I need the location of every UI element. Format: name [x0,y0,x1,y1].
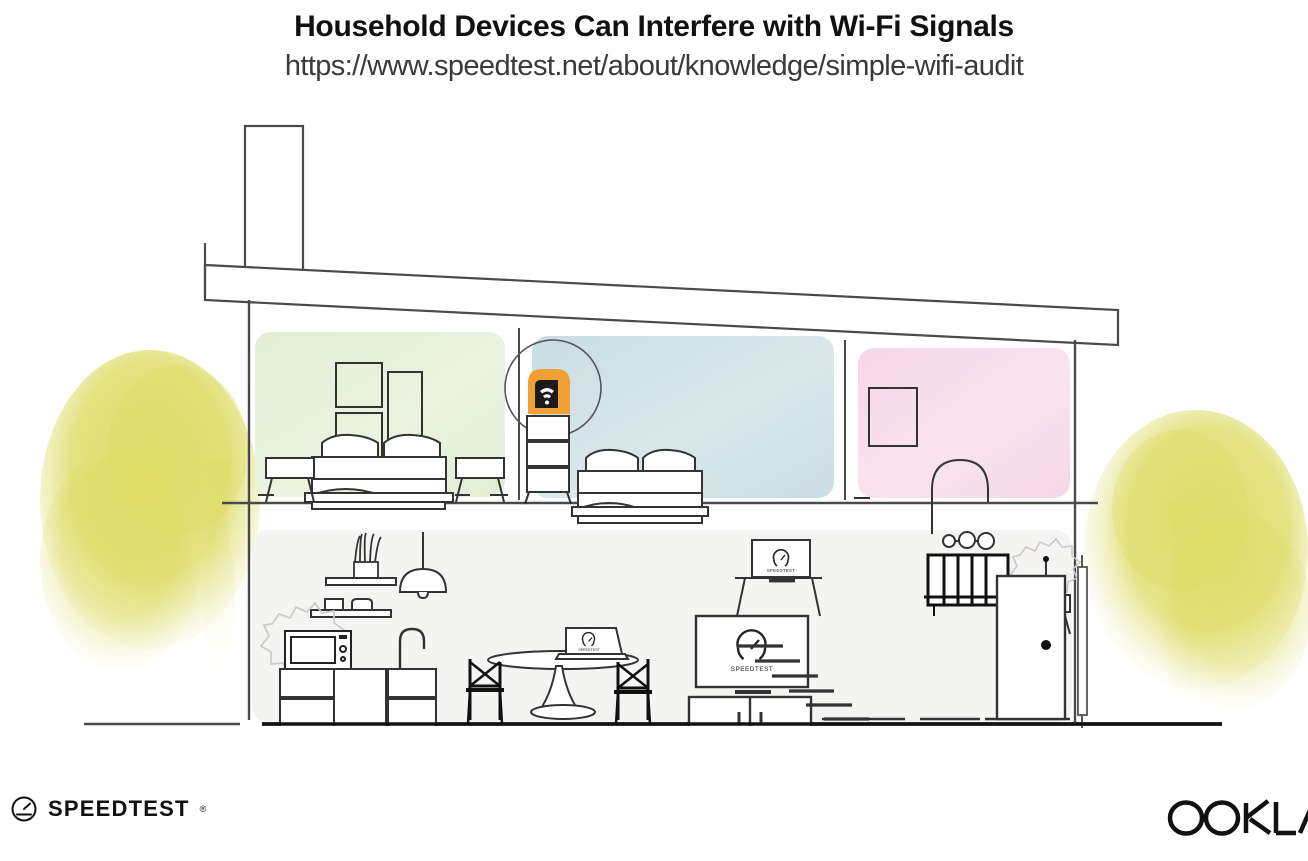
house-svg: SPEEDTEST [0,100,1308,760]
laptop-screen-label: SPEEDTEST [578,648,600,652]
ookla-brand [1164,797,1308,839]
tree-right [1084,410,1308,710]
stairs-mask [252,726,1080,760]
ookla-logo-icon [1164,797,1308,839]
room-nursery-pink [858,348,1070,498]
source-url: https://www.speedtest.net/about/knowledg… [0,50,1308,83]
monitor-screen-label: SPEEDTEST [767,568,795,573]
tree-left [40,350,260,670]
roof [205,243,1118,345]
house-cutaway-illustration: SPEEDTEST [0,100,1308,760]
exterior-post [1078,555,1087,728]
monitor-speedtest: SPEEDTEST [752,540,810,582]
laptop-speedtest: SPEEDTEST [556,628,628,659]
page-title: Household Devices Can Interfere with Wi-… [0,10,1308,44]
speedtest-wordmark: SPEEDTEST [48,796,190,822]
television-speedtest: SPEEDTEST [696,616,808,694]
poster-header: Household Devices Can Interfere with Wi-… [0,0,1308,83]
speedtest-trademark: ® [200,804,207,814]
shelf-unit [525,416,571,504]
chimney [245,126,303,271]
poster-footer: SPEEDTEST ® [0,771,1308,861]
door-knob-icon [1041,640,1051,650]
speedtest-gauge-icon [10,795,38,823]
wifi-router [528,369,570,414]
poster-canvas: Household Devices Can Interfere with Wi-… [0,0,1308,861]
wall-shelf-upper [326,578,396,585]
tv-screen-label: SPEEDTEST [731,666,774,673]
bed-green-room [305,435,453,509]
microwave [285,631,351,669]
speedtest-brand: SPEEDTEST ® [10,795,206,823]
crib-mobile-balls [943,532,994,549]
front-door [997,576,1065,719]
